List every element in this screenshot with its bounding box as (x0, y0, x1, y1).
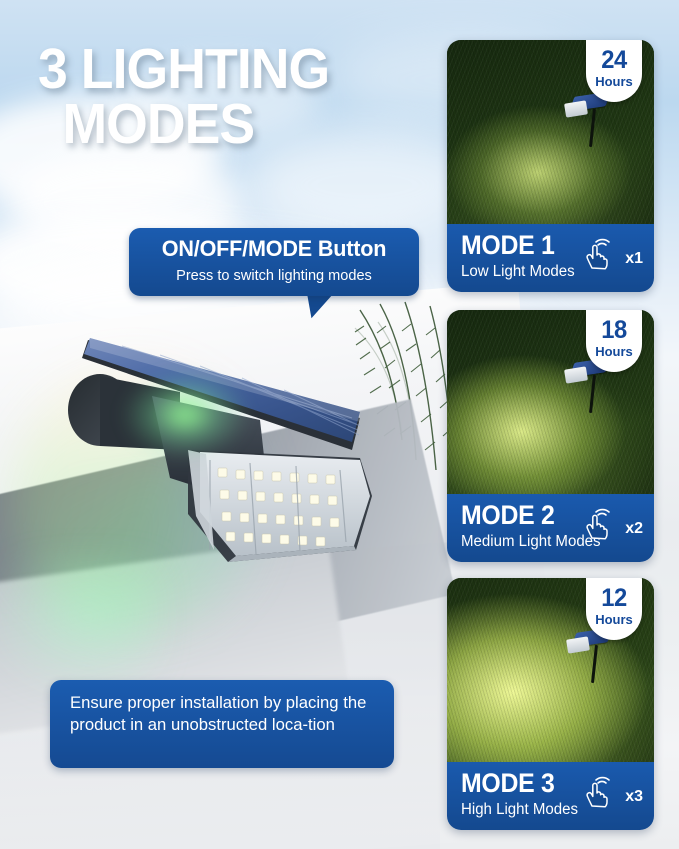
press-count: x2 (625, 520, 643, 538)
mode-3-footer: MODE 3 High Light Modes x3 (447, 762, 654, 830)
mode-subtitle: Low Light Modes (461, 263, 575, 281)
lens-flare-green (120, 370, 250, 460)
hours-label: Hours (586, 74, 642, 89)
press-count: x3 (625, 788, 643, 806)
mode-subtitle: High Light Modes (461, 801, 578, 819)
mode-title: MODE 2 (461, 500, 555, 531)
mode-card-1: 24 Hours MODE 1 Low Light Modes x1 (447, 40, 654, 292)
hours-label: Hours (586, 344, 642, 359)
mode-card-2: 18 Hours MODE 2 Medium Light Modes x2 (447, 310, 654, 562)
hours-value: 18 (587, 316, 640, 345)
mode-card-3: 12 Hours MODE 3 High Light Modes x3 (447, 578, 654, 830)
hours-value: 12 (587, 584, 640, 613)
installation-note-box: Ensure proper installation by placing th… (50, 680, 394, 768)
headline-line-2: MODES (62, 97, 414, 152)
mode-1-footer: MODE 1 Low Light Modes x1 (447, 224, 654, 292)
installation-note-text: Ensure proper installation by placing th… (70, 692, 370, 737)
hours-badge-2: 18 Hours (586, 310, 642, 372)
hours-value: 24 (587, 46, 640, 75)
callout-box: ON/OFF/MODE Button Press to switch light… (129, 228, 419, 296)
callout-subtitle: Press to switch lighting modes (133, 267, 414, 284)
hand-tap-icon (582, 238, 612, 270)
solar-wall-light-product (60, 300, 440, 600)
hand-tap-icon (582, 508, 612, 540)
mode-subtitle: Medium Light Modes (461, 533, 601, 551)
mode-title: MODE 1 (461, 230, 555, 261)
infographic-canvas: 3 LIGHTING MODES ON/OFF/MODE Button Pres… (0, 0, 679, 849)
callout-title: ON/OFF/MODE Button (135, 236, 413, 262)
hours-badge-1: 24 Hours (586, 40, 642, 102)
press-count: x1 (625, 250, 643, 268)
page-title: 3 LIGHTING MODES (38, 42, 414, 153)
mode-title: MODE 3 (461, 768, 555, 799)
mode-2-footer: MODE 2 Medium Light Modes x2 (447, 494, 654, 562)
hours-label: Hours (586, 612, 642, 627)
hand-tap-icon (582, 776, 612, 808)
hours-badge-3: 12 Hours (586, 578, 642, 640)
